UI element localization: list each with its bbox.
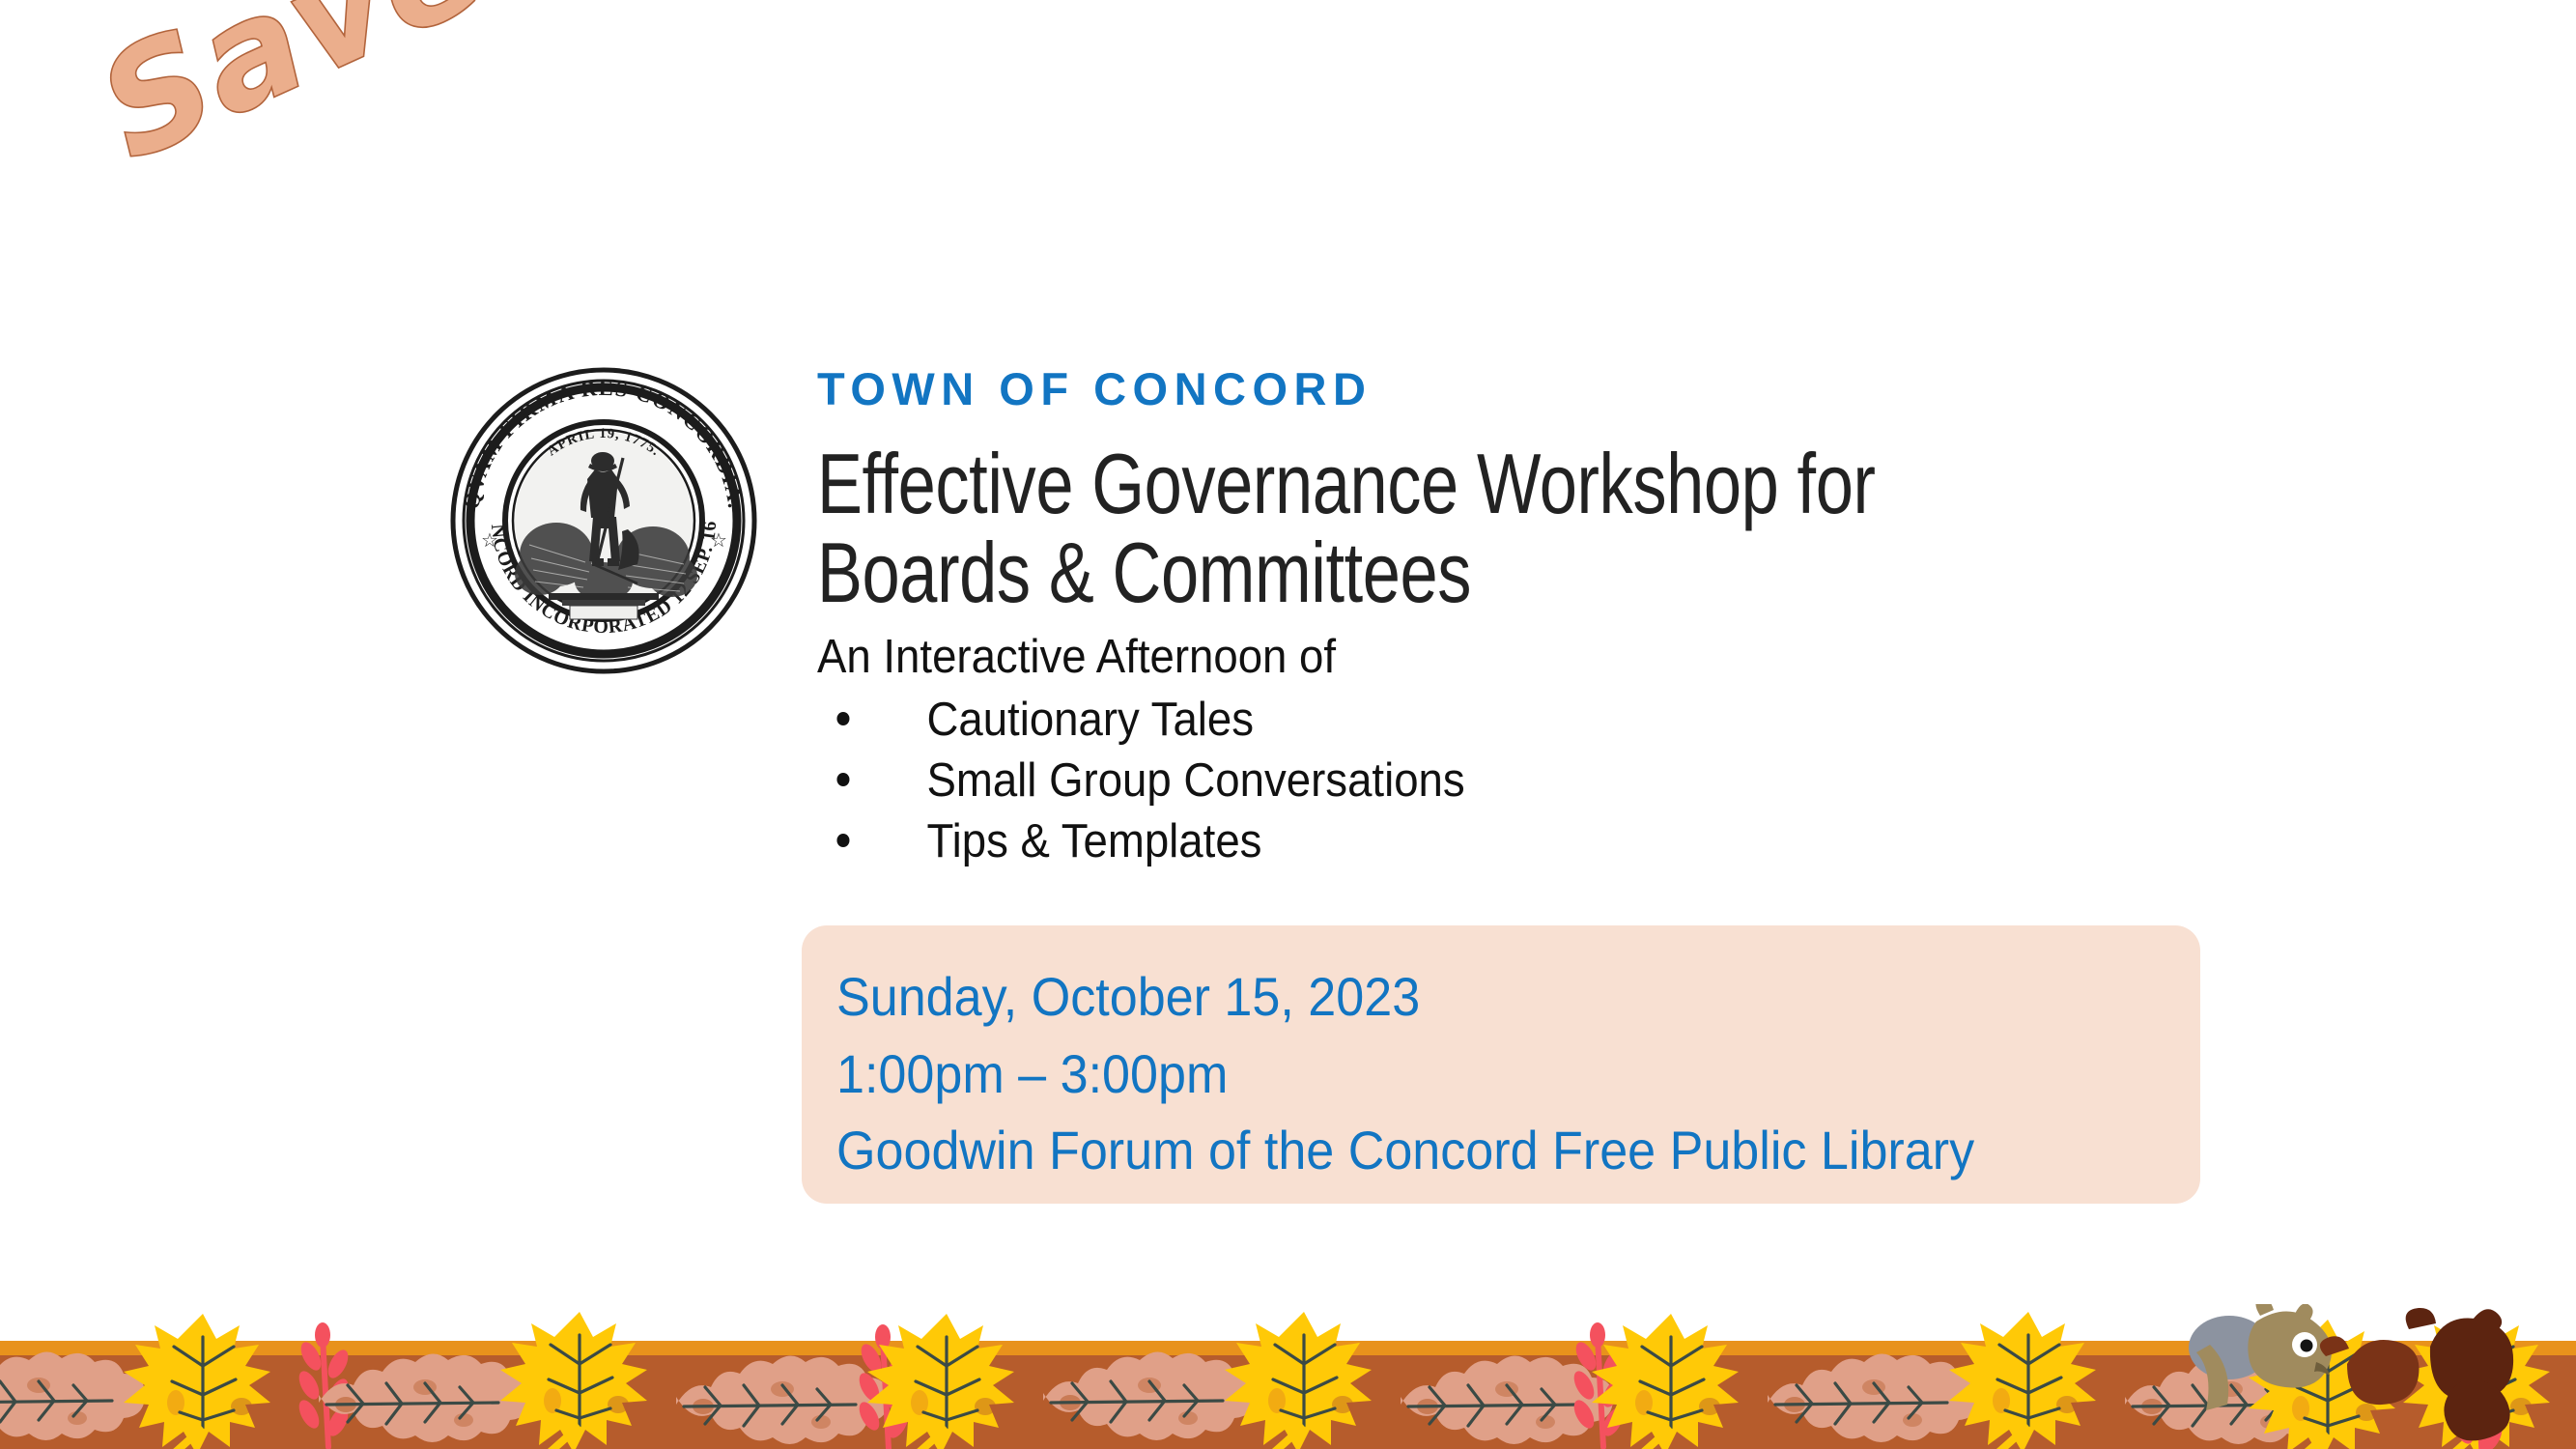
page-title-line-2: Boards & Committees	[817, 528, 1945, 617]
save-the-date-banner: Save the Date!	[39, 0, 1175, 315]
page-title-line-1: Effective Governance Workshop for	[817, 440, 1945, 528]
page-title: Effective Governance Workshop for Boards…	[817, 440, 1945, 616]
list-item: Small Group Conversations	[817, 751, 2129, 811]
content-block: TOWN OF CONCORD Effective Governance Wor…	[817, 365, 2227, 871]
bullet-dot-icon	[836, 834, 849, 847]
list-item: Tips & Templates	[817, 811, 2129, 872]
list-item-label: Small Group Conversations	[926, 754, 1464, 807]
town-of-concord-seal-icon: QVAM FIRMA RES CONCORDIA. CONCORD INCORP…	[448, 365, 759, 676]
seal-star-right-icon: ☆	[710, 530, 727, 552]
flyer-canvas: Save the Date! QVAM FIRMA RES CONCORDIA.…	[0, 0, 2576, 1449]
bullet-dot-icon	[836, 712, 849, 725]
autumn-leaf-border	[0, 1304, 2576, 1449]
list-item-label: Tips & Templates	[926, 815, 1261, 867]
event-date: Sunday, October 15, 2023	[836, 958, 2105, 1036]
list-item-label: Cautionary Tales	[926, 694, 1254, 746]
page-subtitle: An Interactive Afternoon of	[817, 630, 2129, 686]
event-details-card: Sunday, October 15, 2023 1:00pm – 3:00pm…	[802, 925, 2200, 1204]
agenda-list: Cautionary Tales Small Group Conversatio…	[817, 690, 2227, 871]
event-location: Goodwin Forum of the Concord Free Public…	[836, 1112, 2105, 1189]
bullet-dot-icon	[836, 773, 849, 786]
save-the-date-text: Save the Date!	[76, 0, 1263, 192]
event-time: 1:00pm – 3:00pm	[836, 1036, 2105, 1113]
page-eyebrow: TOWN OF CONCORD	[817, 365, 2227, 412]
list-item: Cautionary Tales	[817, 690, 2129, 751]
seal-star-left-icon: ☆	[481, 530, 498, 552]
